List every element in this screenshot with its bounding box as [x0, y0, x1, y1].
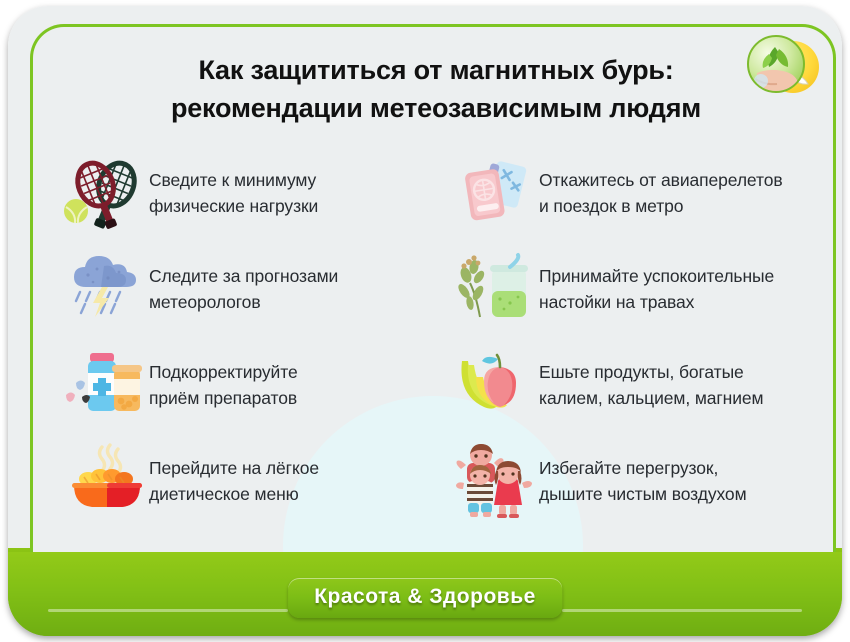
tip-item: Откажитесь от авиаперелетов и поездок в …: [453, 145, 815, 241]
title-line-2: рекомендации метеозависимым людям: [33, 89, 836, 127]
tip-text: Принимайте успокоительные настойки на тр…: [539, 263, 774, 315]
tip-line-2: и поездок в метро: [539, 193, 783, 219]
tip-line-1: Откажитесь от авиаперелетов: [539, 170, 783, 190]
title-line-1: Как защититься от магнитных бурь:: [33, 51, 836, 89]
tip-line-2: диетическое меню: [149, 481, 319, 507]
tip-line-1: Принимайте успокоительные: [539, 266, 774, 286]
tip-line-1: Перейдите на лёгкое: [149, 458, 319, 478]
tip-line-2: физические нагрузки: [149, 193, 318, 219]
tip-item: Избегайте перегрузок, дышите чистым возд…: [453, 433, 815, 529]
banana-apple-icon: [453, 346, 539, 424]
tip-item: Следите за прогнозами метеорологов: [63, 241, 453, 337]
rain-cloud-lightning-icon: [63, 250, 149, 328]
page-title: Как защититься от магнитных бурь: рекоме…: [33, 51, 836, 127]
herbal-drink-icon: [453, 250, 539, 328]
footer-divider-right: [562, 609, 802, 612]
tip-line-1: Сведите к минимуму: [149, 170, 316, 190]
tip-line-2: метеорологов: [149, 289, 338, 315]
passport-tickets-icon: [453, 154, 539, 232]
children-icon: [453, 442, 539, 520]
food-bowl-icon: [63, 442, 149, 520]
tip-line-1: Подкорректируйте: [149, 362, 298, 382]
tip-text: Ешьте продукты, богатые калием, кальцием…: [539, 359, 764, 411]
tip-text: Сведите к минимуму физические нагрузки: [149, 167, 318, 219]
green-frame: Как защититься от магнитных бурь: рекоме…: [8, 6, 842, 636]
content-panel: Как защититься от магнитных бурь: рекоме…: [30, 24, 836, 576]
tip-item: Принимайте успокоительные настойки на тр…: [453, 241, 815, 337]
medicine-bottles-icon: [63, 346, 149, 424]
brand-badge[interactable]: Красота & Здоровье: [288, 578, 562, 618]
brand-logo: [747, 35, 819, 97]
tip-item: Сведите к минимуму физические нагрузки: [63, 145, 453, 241]
infographic-poster: Как защититься от магнитных бурь: рекоме…: [0, 0, 850, 642]
tip-text: Избегайте перегрузок, дышите чистым возд…: [539, 455, 747, 507]
tennis-rackets-icon: [63, 154, 149, 232]
tip-text: Перейдите на лёгкое диетическое меню: [149, 455, 319, 507]
tip-item: Ешьте продукты, богатые калием, кальцием…: [453, 337, 815, 433]
tip-line-1: Избегайте перегрузок,: [539, 458, 718, 478]
footer-divider-left: [48, 609, 288, 612]
tips-grid: Сведите к минимуму физические нагрузки: [63, 145, 815, 529]
leaf-hand-icon: [747, 35, 805, 93]
tip-line-2: приём препаратов: [149, 385, 298, 411]
tip-line-2: настойки на травах: [539, 289, 774, 315]
tip-item: Перейдите на лёгкое диетическое меню: [63, 433, 453, 529]
footer-bar: Красота & Здоровье: [8, 552, 842, 636]
tip-item: Подкорректируйте приём препаратов: [63, 337, 453, 433]
tip-line-1: Ешьте продукты, богатые: [539, 362, 744, 382]
tip-line-1: Следите за прогнозами: [149, 266, 338, 286]
tip-text: Откажитесь от авиаперелетов и поездок в …: [539, 167, 783, 219]
tip-line-2: калием, кальцием, магнием: [539, 385, 764, 411]
tip-text: Следите за прогнозами метеорологов: [149, 263, 338, 315]
tip-line-2: дышите чистым воздухом: [539, 481, 747, 507]
tip-text: Подкорректируйте приём препаратов: [149, 359, 298, 411]
